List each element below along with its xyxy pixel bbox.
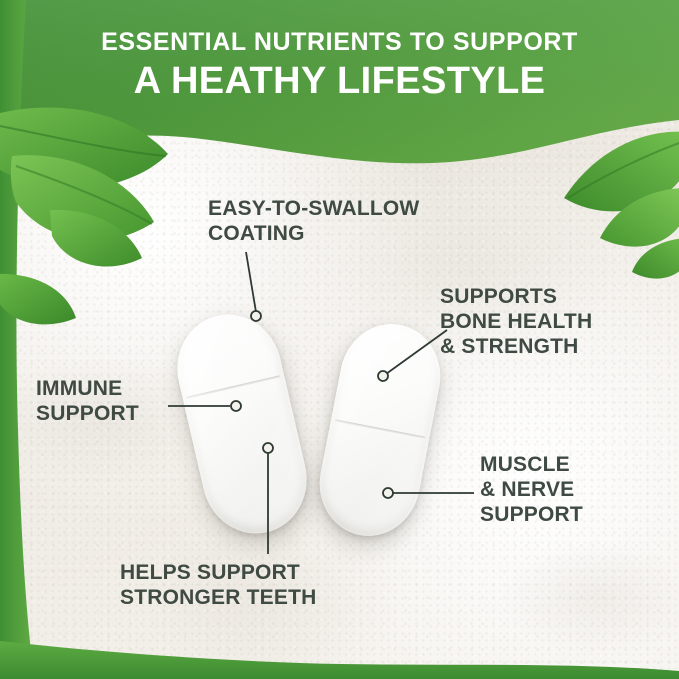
callout-supports-bone-health: SUPPORTS BONE HEALTH & STRENGTH: [440, 284, 660, 359]
leaf-icon-left-lower: [0, 272, 78, 334]
callout-easy-to-swallow-coating: EASY-TO-SWALLOW COATING: [208, 196, 488, 246]
tablet-right-score-line: [335, 419, 426, 439]
callout-immune-support: IMMUNE SUPPORT: [36, 376, 211, 426]
callout-helps-support-stronger-teeth: HELPS SUPPORT STRONGER TEETH: [120, 560, 410, 610]
green-bottom-edge: [0, 627, 679, 679]
callout-muscle-nerve-support: MUSCLE & NERVE SUPPORT: [480, 452, 655, 527]
infographic-canvas: ESSENTIAL NUTRIENTS TO SUPPORT A HEATHY …: [0, 0, 679, 679]
leaf-icon-left-small: [48, 206, 144, 276]
leaf-icon-right-small: [630, 236, 679, 286]
